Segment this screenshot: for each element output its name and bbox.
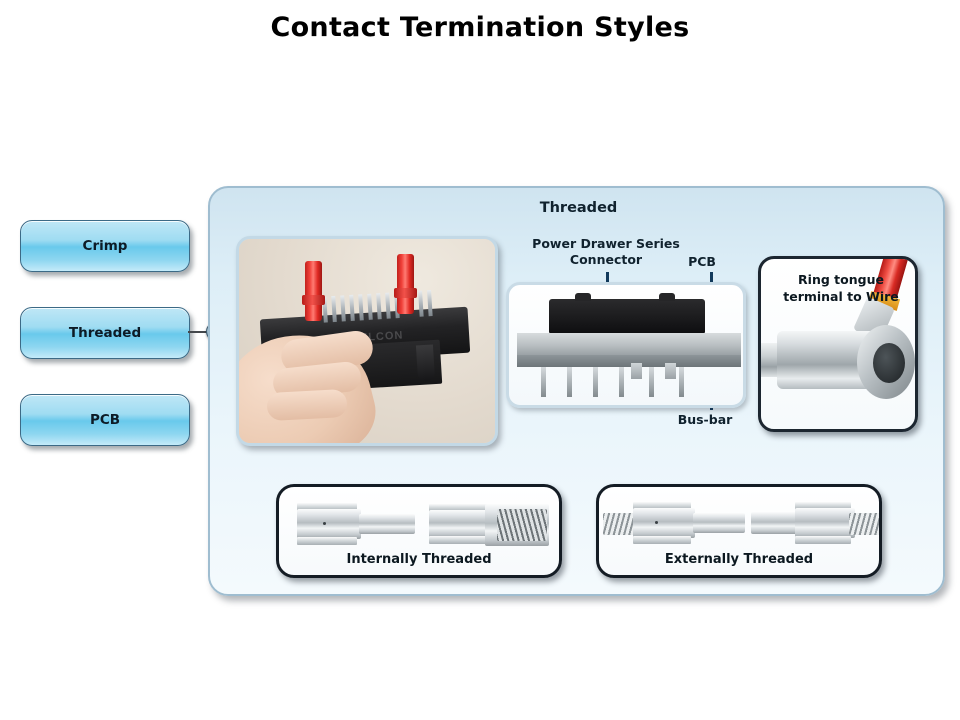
pin-body-shape xyxy=(633,508,695,538)
pcb-through-pin xyxy=(679,367,684,397)
pcb-through-pin xyxy=(593,367,598,397)
connector-pin xyxy=(367,294,373,320)
pcb-power-pin xyxy=(631,363,642,379)
socket-nose-shape xyxy=(751,512,799,534)
pcb-connector-tab xyxy=(575,293,591,301)
pcb-busbar-diagram-card xyxy=(506,282,746,408)
pin-center-dot xyxy=(655,521,658,524)
connector-pin xyxy=(376,293,382,319)
terminal-ring-hole-shape xyxy=(873,343,905,383)
pin-body-shape xyxy=(297,509,361,539)
socket-flange-shape xyxy=(795,536,851,544)
pcb-through-pin xyxy=(541,367,546,397)
connector-photo-image: BELCON xyxy=(239,239,495,443)
connector-pin xyxy=(418,291,424,317)
pin-flange-shape xyxy=(297,537,357,545)
external-thread-pattern xyxy=(849,513,881,535)
pin-nose-shape xyxy=(693,513,745,533)
sidebar-item-label: Threaded xyxy=(69,325,141,341)
sidebar-item-label: PCB xyxy=(90,412,120,428)
socket-flange-shape xyxy=(429,536,487,544)
pcb-power-pin xyxy=(665,363,676,379)
threaded-content-panel: Threaded BELCON xyxy=(208,186,945,596)
connector-pin xyxy=(427,290,433,316)
pcb-through-pin xyxy=(619,367,624,397)
pin-nose-shape xyxy=(359,514,415,534)
pcb-board xyxy=(517,333,741,355)
sidebar-item-label: Crimp xyxy=(83,238,128,254)
connector-nub-shape xyxy=(416,345,435,382)
ring-tongue-terminal-card: Ring tongue terminal to Wire xyxy=(758,256,918,432)
callout-label-pcb: PCB xyxy=(662,254,742,269)
pcb-through-pin xyxy=(649,367,654,397)
red-threaded-post xyxy=(305,261,322,321)
callout-label-busbar: Bus-bar xyxy=(650,412,760,427)
connector-pin xyxy=(358,294,364,320)
ring-label-line-2: terminal to Wire xyxy=(765,288,917,305)
pcb-connector-tab xyxy=(659,293,675,301)
panel-header-title: Threaded xyxy=(210,200,947,216)
ring-label-line-1: Ring tongue xyxy=(765,271,917,288)
ring-tongue-terminal-label: Ring tongue terminal to Wire xyxy=(765,271,917,305)
page-title: Contact Termination Styles xyxy=(0,12,960,43)
sidebar-item-pcb[interactable]: PCB xyxy=(20,394,190,446)
finger-shape xyxy=(266,389,347,421)
pcb-connector-body xyxy=(549,299,705,333)
connector-pin xyxy=(385,293,391,319)
pin-flange-shape xyxy=(633,536,691,544)
externally-threaded-label: Externally Threaded xyxy=(599,552,879,567)
pcb-busbar xyxy=(517,355,741,367)
pin-center-dot xyxy=(323,522,326,525)
connector-pin xyxy=(340,295,346,321)
externally-threaded-card: Externally Threaded xyxy=(596,484,882,578)
socket-body-shape xyxy=(795,508,855,538)
sidebar-item-crimp[interactable]: Crimp xyxy=(20,220,190,272)
red-threaded-post xyxy=(397,254,414,314)
callout-line-1: Power Drawer Series xyxy=(506,236,706,252)
socket-body-shape xyxy=(429,510,491,538)
sidebar-item-threaded[interactable]: Threaded xyxy=(20,307,190,359)
internally-threaded-label: Internally Threaded xyxy=(279,552,559,567)
internally-threaded-card: Internally Threaded xyxy=(276,484,562,578)
connector-pin xyxy=(331,296,337,322)
pcb-through-pin xyxy=(567,367,572,397)
connector-photo-card: BELCON xyxy=(236,236,498,446)
connector-pin xyxy=(349,295,355,321)
external-thread-pattern xyxy=(603,513,637,535)
internal-thread-pattern xyxy=(497,509,547,541)
